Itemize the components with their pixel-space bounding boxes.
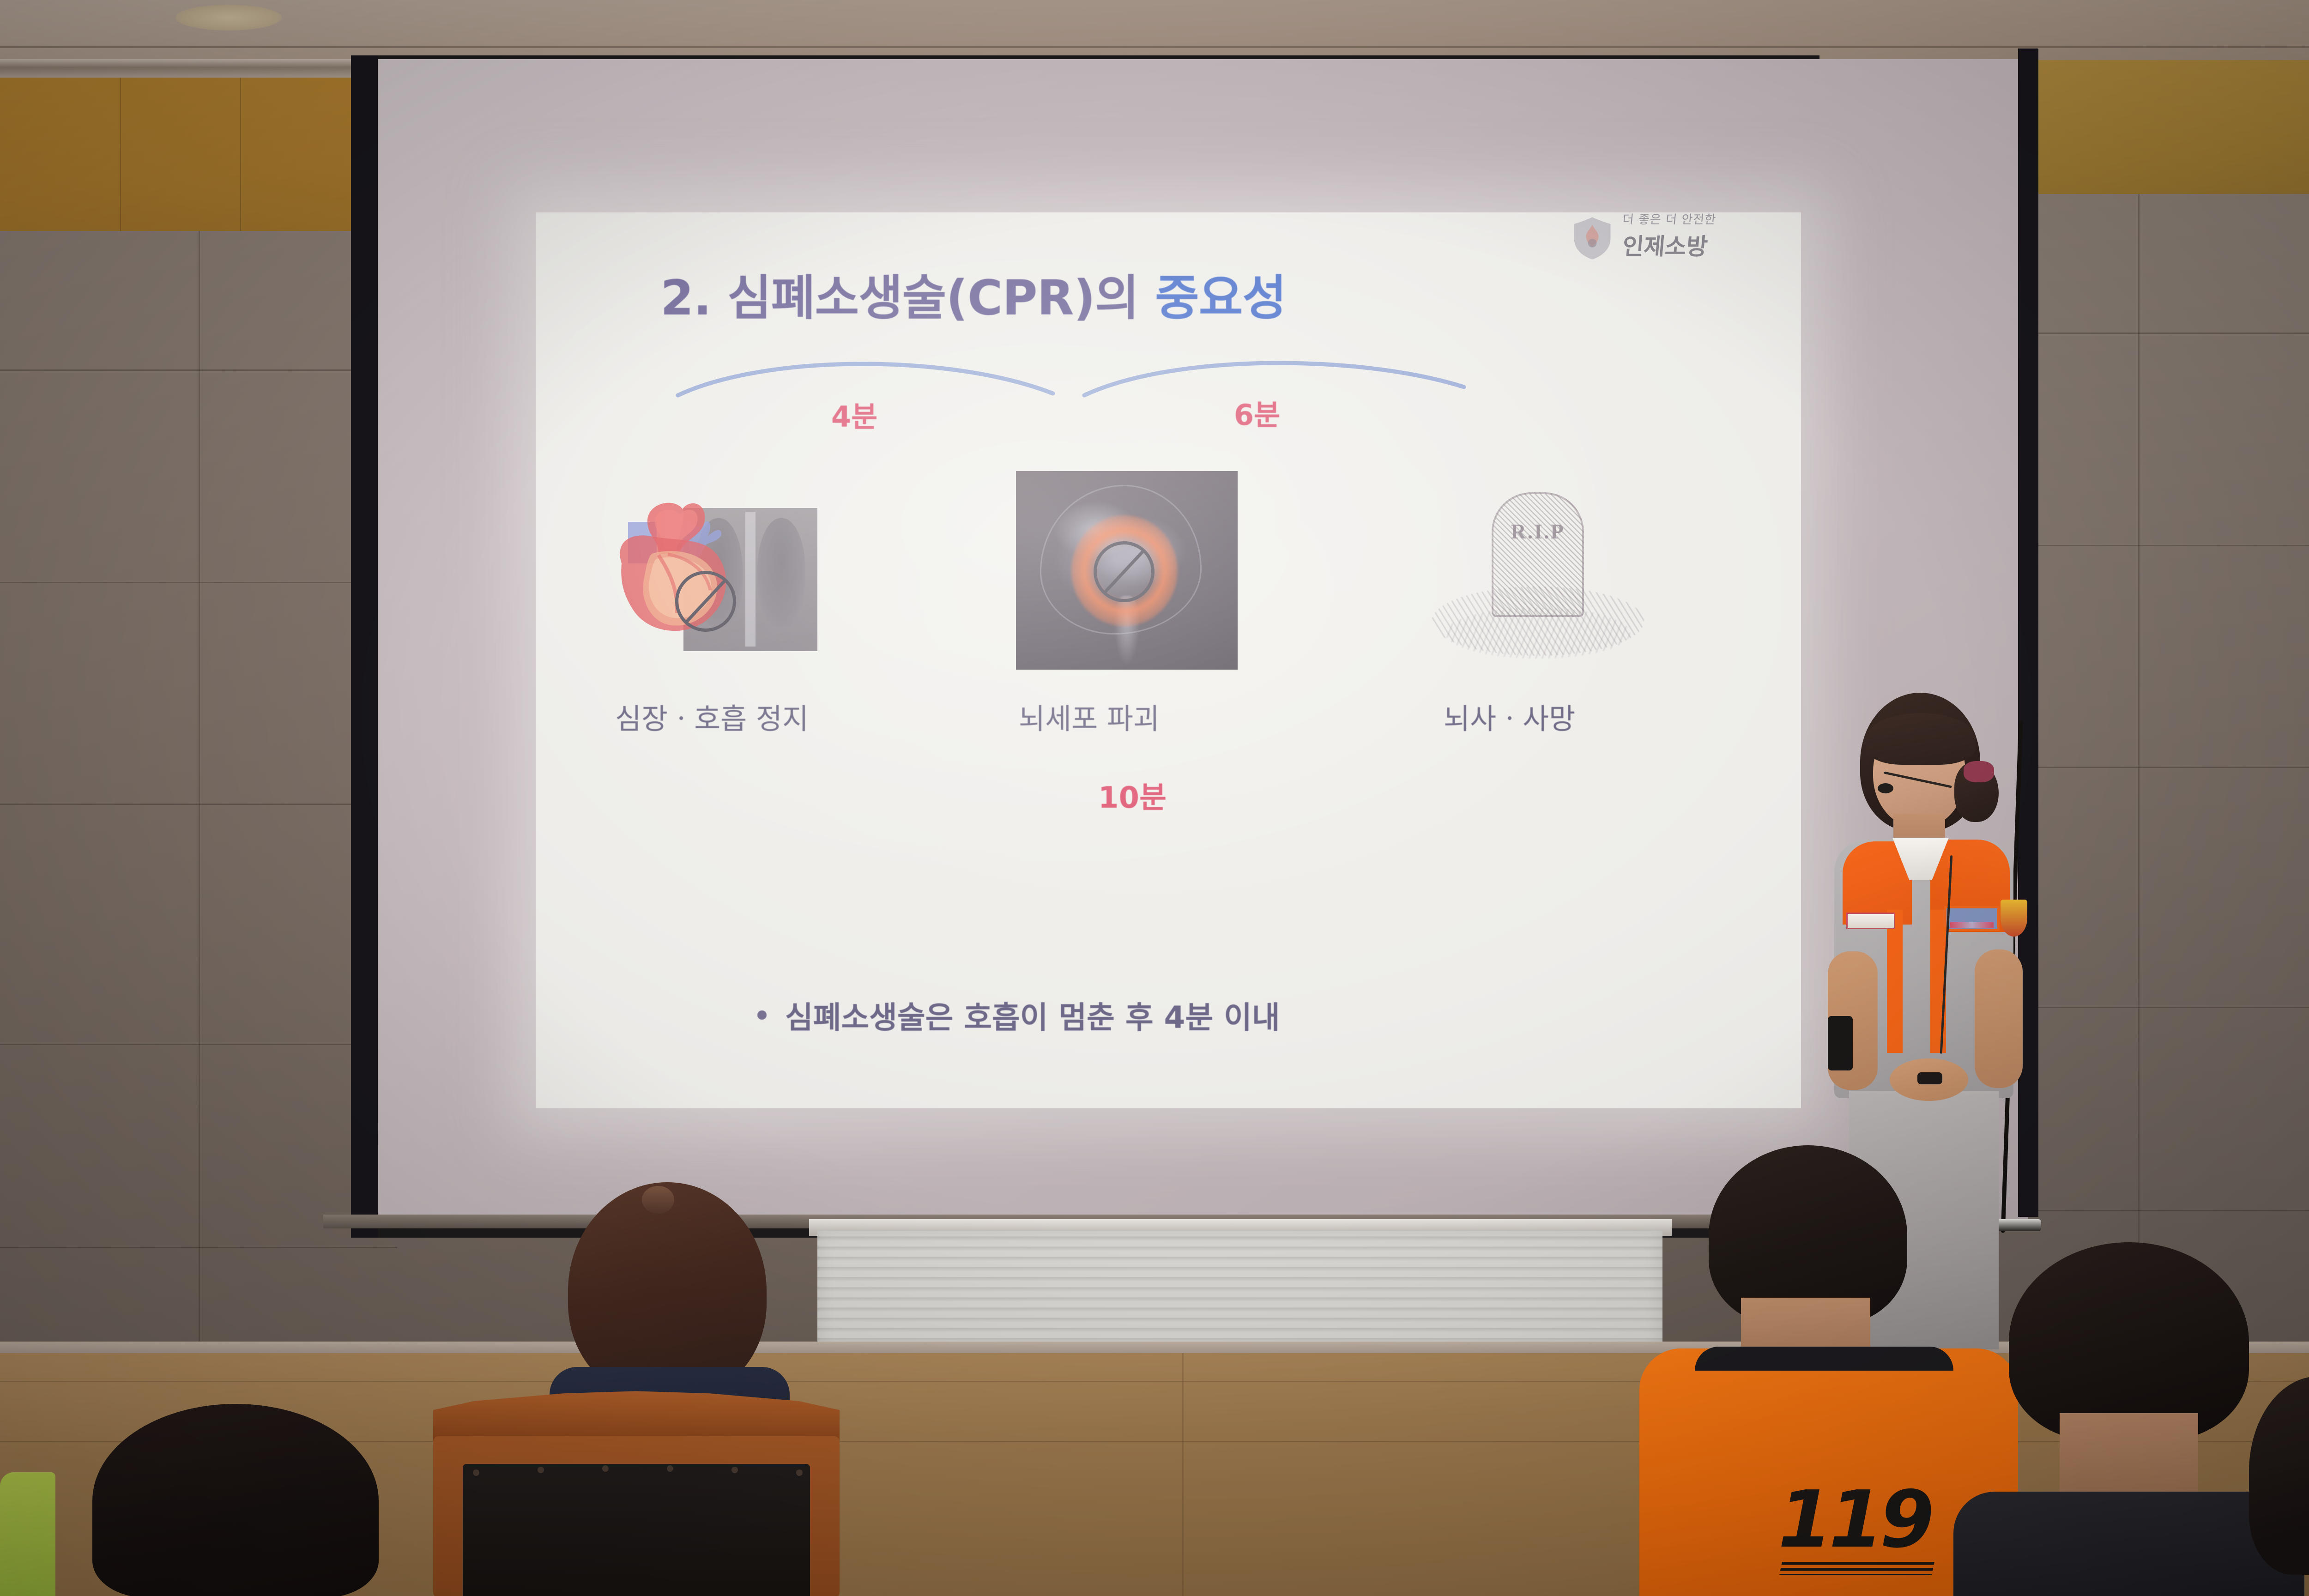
slide-bullet-row: 심폐소생술은 호흡이 멈춘 후 4분 이내 [757,993,1280,1037]
panel-caption-3: 뇌사ㆍ사망 [1444,695,1575,737]
fire-department-emblem-icon [1568,213,1616,261]
shirt-number-119: 119 [1778,1474,1931,1566]
gravestone-text: R.I.P [1493,519,1582,544]
slide-title-part2: 중요성 [1155,270,1286,326]
belt-radio-icon [1828,1016,1853,1070]
minute-label-10: 10분 [1098,774,1167,816]
audience-person-far-right [2249,1376,2309,1596]
panel-caption-1: 심장ㆍ호흡 정지 [615,695,809,737]
panel-caption-2: 뇌세포 파괴 [1019,695,1160,737]
name-ribbon-icon [1846,913,1895,929]
slide-logo: 더 좋은 더 안전한 인제소방 [1568,212,1771,261]
logo-name: 인제소방 [1621,228,1709,261]
panel-brain-mri [1016,471,1238,670]
logo-slogan: 더 좋은 더 안전한 [1622,212,1717,227]
headset-mic-capsule-icon [1878,783,1893,793]
audience-hair-part [642,1186,674,1214]
green-chair-back [0,1472,55,1596]
rank-badge-icon [1944,906,2000,931]
screen-border-left [351,55,378,1238]
bullet-marker-icon [757,1010,767,1020]
audience-person-far-left [92,1404,379,1596]
shirt-number-underline [1779,1562,1934,1575]
prohibition-slash-icon [675,571,736,632]
slide-title-part1: 2. 심폐소생술(CPR)의 [660,270,1155,326]
prohibition-slash-icon [1094,541,1154,602]
slide-title: 2. 심폐소생술(CPR)의 중요성 [660,259,1286,328]
presentation-clicker-icon [1917,1072,1942,1084]
audience-hair [92,1404,379,1596]
uniform-orange-stripe-left [1887,910,1903,1053]
panel-heart-xray [614,480,836,679]
presenter-fringe [1866,713,1976,765]
panel-gravestone: R.I.P [1427,471,1649,670]
wooden-chair [433,1390,840,1596]
presenter-hair-tie [1964,761,1994,782]
slide-bullet-text: 심폐소생술은 호흡이 멈춘 후 4분 이내 [785,993,1280,1037]
minute-label-6: 6분 [1234,392,1280,433]
gravestone-icon: R.I.P [1492,492,1584,617]
grass-foreground-icon [1445,608,1630,659]
audience-hair [2249,1376,2309,1575]
presenter-arm-right [1975,949,2023,1088]
shoulder-patch-icon [2001,900,2027,937]
ceiling-seam [0,46,2309,48]
audience-shirt-collar [1695,1347,1953,1371]
minute-label-4: 4분 [831,393,877,435]
lecture-room-photo: 더 좋은 더 안전한 인제소방 2. 심폐소생술(CPR)의 중요성 4분 6분… [0,0,2309,1596]
audience-hair [2009,1242,2249,1441]
recessed-ceiling-light-icon [175,5,282,30]
projected-slide: 더 좋은 더 안전한 인제소방 2. 심폐소생술(CPR)의 중요성 4분 6분… [536,212,1801,1108]
chair-leather-pad [463,1464,810,1596]
